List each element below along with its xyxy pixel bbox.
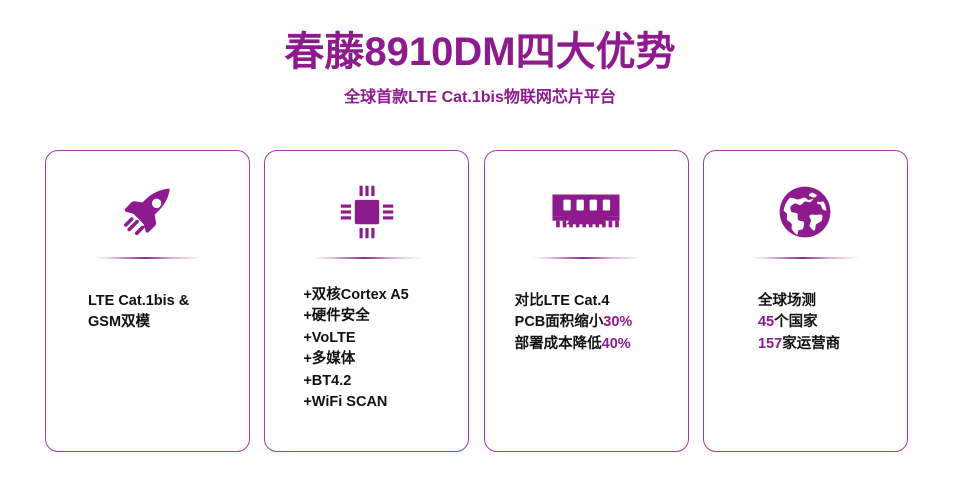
card-text-line: 部署成本降低40%: [515, 334, 688, 355]
card-divider: [93, 257, 203, 259]
text-fragment: 对比LTE Cat.4: [515, 293, 610, 309]
page-subtitle: 全球首款LTE Cat.1bis物联网芯片平台: [0, 88, 960, 107]
feature-card: 全球场测45个国家157家运营商: [703, 150, 908, 452]
card-text-block: 全球场测45个国家157家运营商: [704, 291, 907, 355]
text-fragment: +双核Cortex A5: [303, 287, 408, 303]
text-fragment: +硬件安全: [303, 308, 369, 324]
page-title: 春藤8910DM四大优势: [0, 30, 960, 74]
text-fragment: LTE Cat.1bis &: [88, 293, 189, 309]
text-fragment: 个国家: [774, 314, 818, 330]
memory-module-icon: [485, 173, 688, 251]
text-fragment: 全球场测: [758, 293, 816, 309]
card-text-line: GSM双模: [88, 312, 249, 333]
card-text-line: 全球场测: [758, 291, 907, 312]
card-text-block: LTE Cat.1bis &GSM双模: [46, 291, 249, 334]
card-text-line: +多媒体: [303, 349, 468, 370]
highlight-value: 45: [758, 314, 774, 330]
card-text-line: 对比LTE Cat.4: [515, 291, 688, 312]
card-text-line: +双核Cortex A5: [303, 285, 468, 306]
card-divider: [531, 257, 641, 259]
globe-icon: [704, 173, 907, 251]
slide-root: 春藤8910DM四大优势 全球首款LTE Cat.1bis物联网芯片平台 LTE…: [0, 0, 960, 491]
card-text-line: +WiFi SCAN: [303, 392, 468, 413]
highlight-value: 40%: [602, 336, 631, 352]
card-text-block: 对比LTE Cat.4PCB面积缩小30%部署成本降低40%: [485, 291, 688, 355]
feature-card: 对比LTE Cat.4PCB面积缩小30%部署成本降低40%: [484, 150, 689, 452]
text-fragment: +VoLTE: [303, 330, 355, 346]
highlight-value: 157: [758, 336, 782, 352]
text-fragment: GSM双模: [88, 314, 150, 330]
chip-icon: [265, 173, 468, 251]
card-divider: [750, 257, 860, 259]
text-fragment: +WiFi SCAN: [303, 394, 387, 410]
slide-header: 春藤8910DM四大优势 全球首款LTE Cat.1bis物联网芯片平台: [0, 0, 960, 107]
card-text-line: +VoLTE: [303, 328, 468, 349]
card-text-line: PCB面积缩小30%: [515, 312, 688, 333]
text-fragment: +BT4.2: [303, 373, 351, 389]
card-divider: [312, 257, 422, 259]
card-text-line: +硬件安全: [303, 306, 468, 327]
feature-card: LTE Cat.1bis &GSM双模: [45, 150, 250, 452]
card-text-line: 157家运营商: [758, 334, 907, 355]
card-text-line: LTE Cat.1bis &: [88, 291, 249, 312]
rocket-icon: [46, 173, 249, 251]
card-text-block: +双核Cortex A5+硬件安全+VoLTE+多媒体+BT4.2+WiFi S…: [265, 285, 468, 414]
card-text-line: 45个国家: [758, 312, 907, 333]
feature-card-row: LTE Cat.1bis &GSM双模: [45, 150, 908, 452]
feature-card: +双核Cortex A5+硬件安全+VoLTE+多媒体+BT4.2+WiFi S…: [264, 150, 469, 452]
highlight-value: 30%: [603, 314, 632, 330]
card-text-line: +BT4.2: [303, 371, 468, 392]
text-fragment: +多媒体: [303, 351, 355, 367]
text-fragment: PCB面积缩小: [515, 314, 604, 330]
text-fragment: 部署成本降低: [515, 336, 602, 352]
text-fragment: 家运营商: [782, 336, 840, 352]
